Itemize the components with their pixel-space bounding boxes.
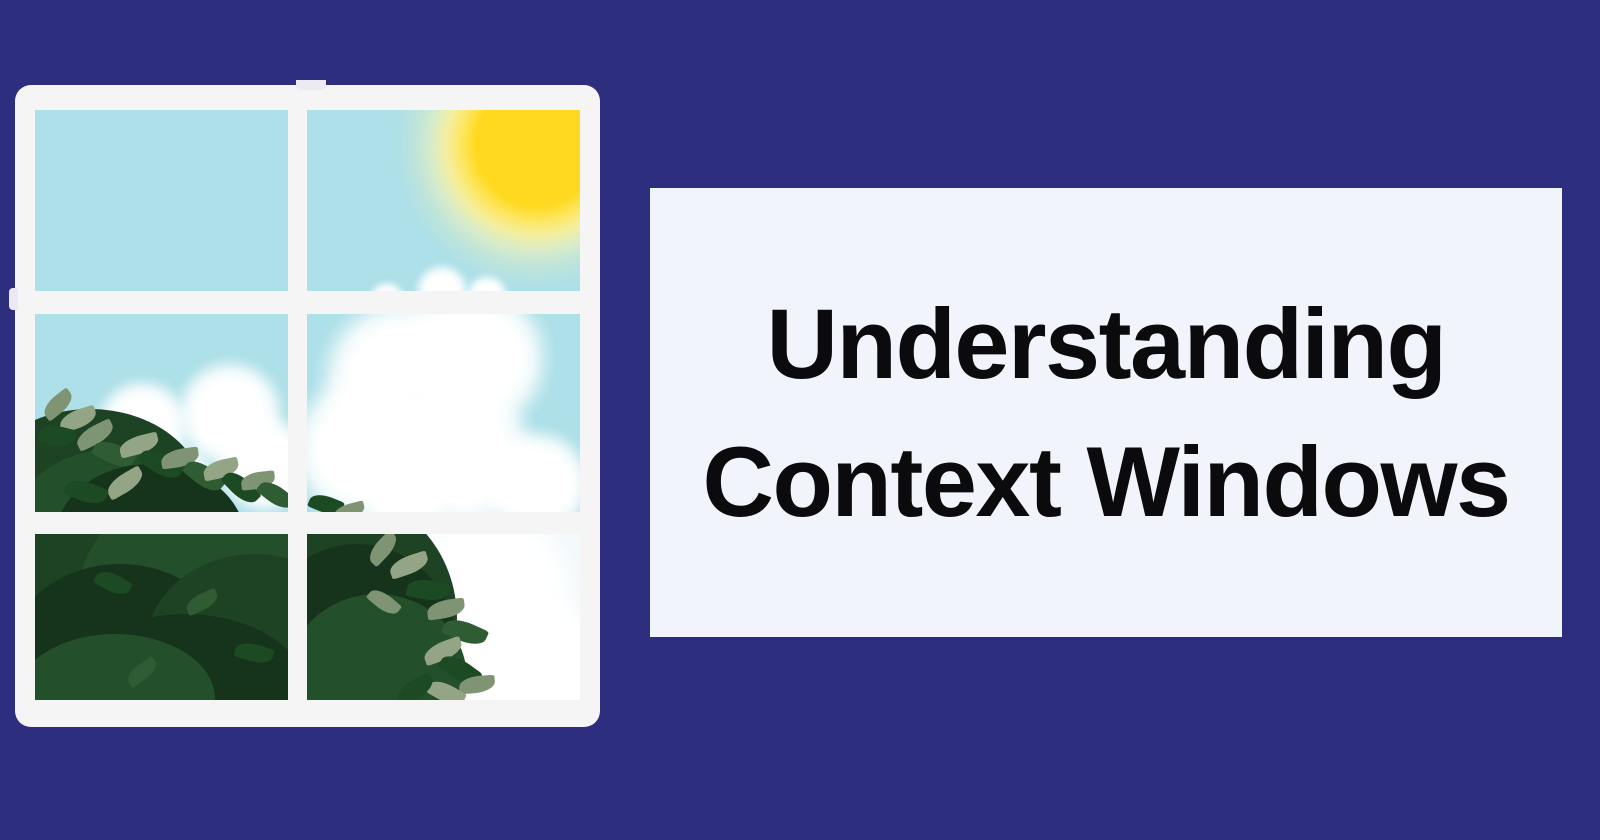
window-handle-icon bbox=[9, 288, 18, 310]
window-pane-r2c2 bbox=[307, 314, 580, 512]
window-latch-icon bbox=[296, 80, 326, 90]
window-pane-r1c2 bbox=[307, 110, 580, 291]
window-pane-r1c1 bbox=[35, 110, 288, 291]
window-illustration bbox=[15, 85, 600, 727]
window-pane-r3c1 bbox=[35, 534, 288, 700]
title-card: Understanding Context Windows bbox=[650, 188, 1562, 637]
slide-canvas: Understanding Context Windows bbox=[0, 0, 1600, 840]
window-pane-r2c1 bbox=[35, 314, 288, 512]
sky-layer bbox=[35, 110, 288, 291]
page-title: Understanding Context Windows bbox=[702, 275, 1509, 551]
window-pane-r3c2 bbox=[307, 534, 580, 700]
